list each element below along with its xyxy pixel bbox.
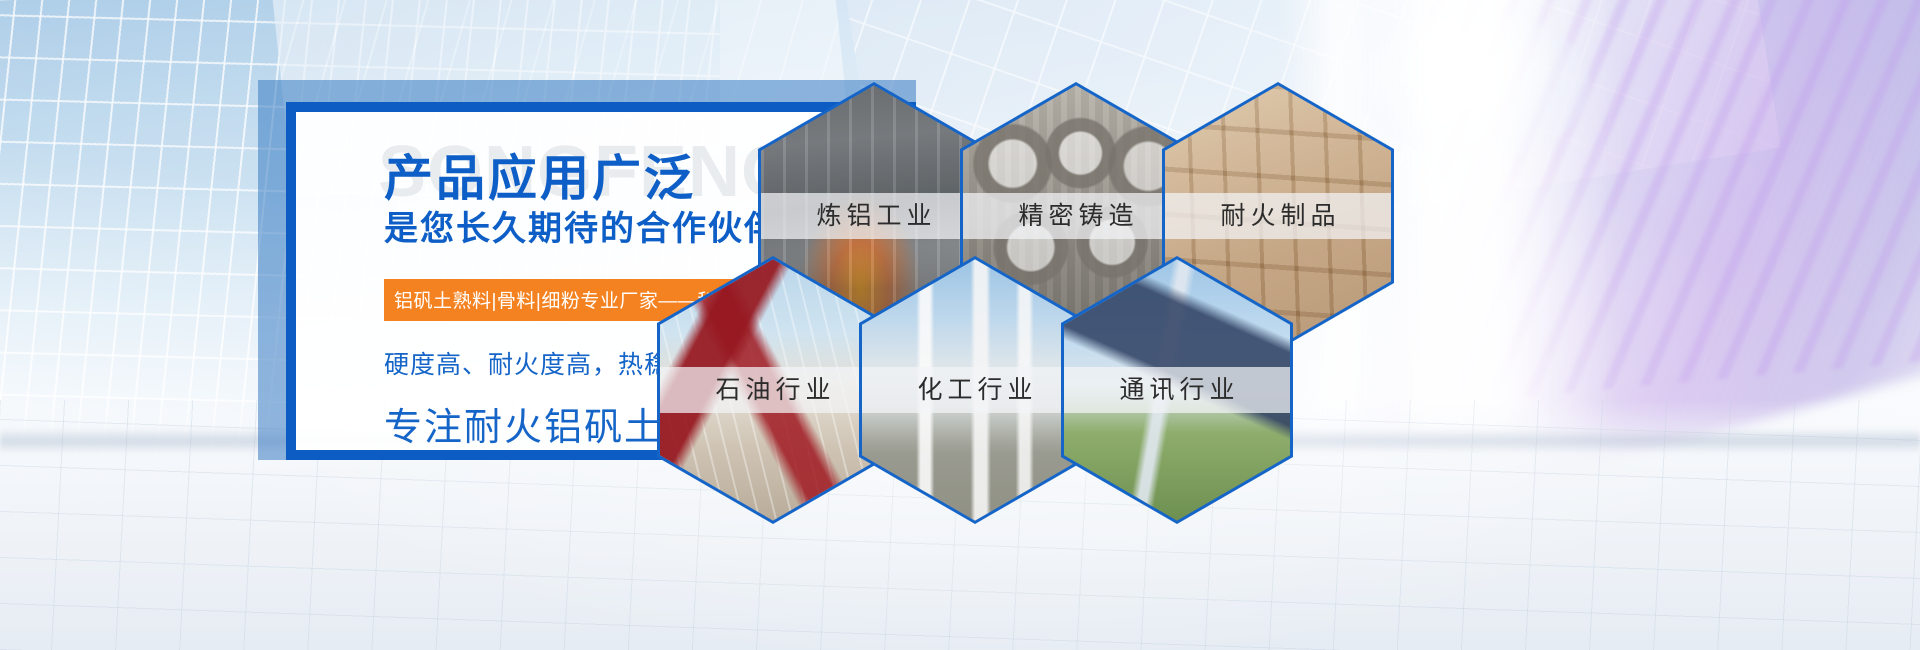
hexagon-tile-chemical-industry[interactable]: 化工行业 (859, 256, 1091, 524)
hexagon-tile-telecom-industry[interactable]: 通讯行业 (1061, 256, 1293, 524)
hexagon-photo-clip: 石油行业 (660, 259, 886, 520)
hexagon-label: 通讯行业 (1064, 367, 1290, 413)
industry-hexagon-cluster: 炼铝工业 精密铸造 耐火制品 石油行业 化工行业 (660, 60, 1400, 580)
hexagon-label: 精密铸造 (963, 193, 1189, 239)
hexagon-label: 耐火制品 (1165, 193, 1391, 239)
hexagon-label: 炼铝工业 (761, 193, 987, 239)
hexagon-label: 化工行业 (862, 367, 1088, 413)
hexagon-label: 石油行业 (660, 367, 886, 413)
hexagon-photo-clip: 化工行业 (862, 259, 1088, 520)
hexagon-photo-clip: 通讯行业 (1064, 259, 1290, 520)
hexagon-tile-oil-industry[interactable]: 石油行业 (657, 256, 889, 524)
headline-text: 产品应用广泛 (384, 155, 696, 204)
